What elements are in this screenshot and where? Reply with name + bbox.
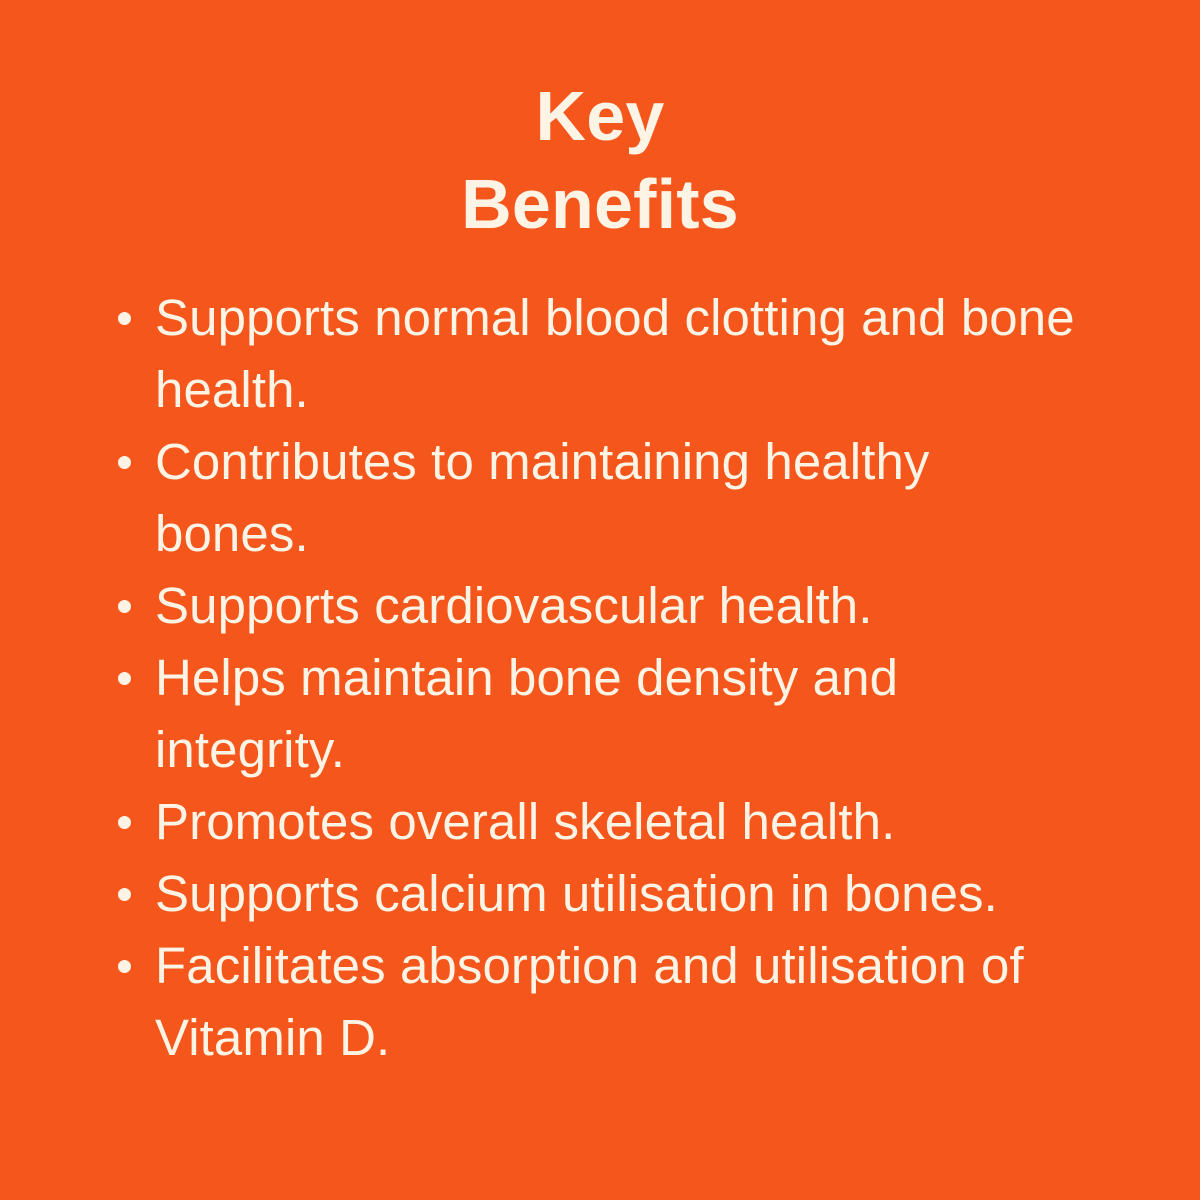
bullet-icon [118, 960, 131, 973]
list-item-label: Supports calcium utilisation in bones. [155, 865, 998, 922]
bullet-icon [118, 600, 131, 613]
list-item-label: Helps maintain bone density and integrit… [155, 649, 898, 778]
list-item-label: Contributes to maintaining healthy bones… [155, 433, 930, 562]
list-item: Supports cardiovascular health. [118, 570, 1090, 642]
list-item-label: Supports cardiovascular health. [155, 577, 873, 634]
list-item-label: Supports normal blood clotting and bone … [155, 289, 1075, 418]
bullet-icon [118, 816, 131, 829]
list-item: Supports calcium utilisation in bones. [118, 858, 1090, 930]
list-item: Supports normal blood clotting and bone … [118, 282, 1090, 426]
bullet-icon [118, 888, 131, 901]
bullet-icon [118, 456, 131, 469]
list-item: Contributes to maintaining healthy bones… [118, 426, 1090, 570]
list-item: Promotes overall skeletal health. [118, 786, 1090, 858]
list-item: Facilitates absorption and utilisation o… [118, 930, 1090, 1074]
bullet-icon [118, 672, 131, 685]
list-item: Helps maintain bone density and integrit… [118, 642, 1090, 786]
list-item-label: Facilitates absorption and utilisation o… [155, 937, 1024, 1066]
benefits-list: Supports normal blood clotting and bone … [0, 282, 1200, 1074]
bullet-icon [118, 312, 131, 325]
page-title: Key Benefits [0, 0, 1200, 248]
list-item-label: Promotes overall skeletal health. [155, 793, 895, 850]
page-title-line-1: Key [0, 72, 1200, 160]
page-title-line-2: Benefits [0, 160, 1200, 248]
key-benefits-poster: Key Benefits Supports normal blood clott… [0, 0, 1200, 1200]
